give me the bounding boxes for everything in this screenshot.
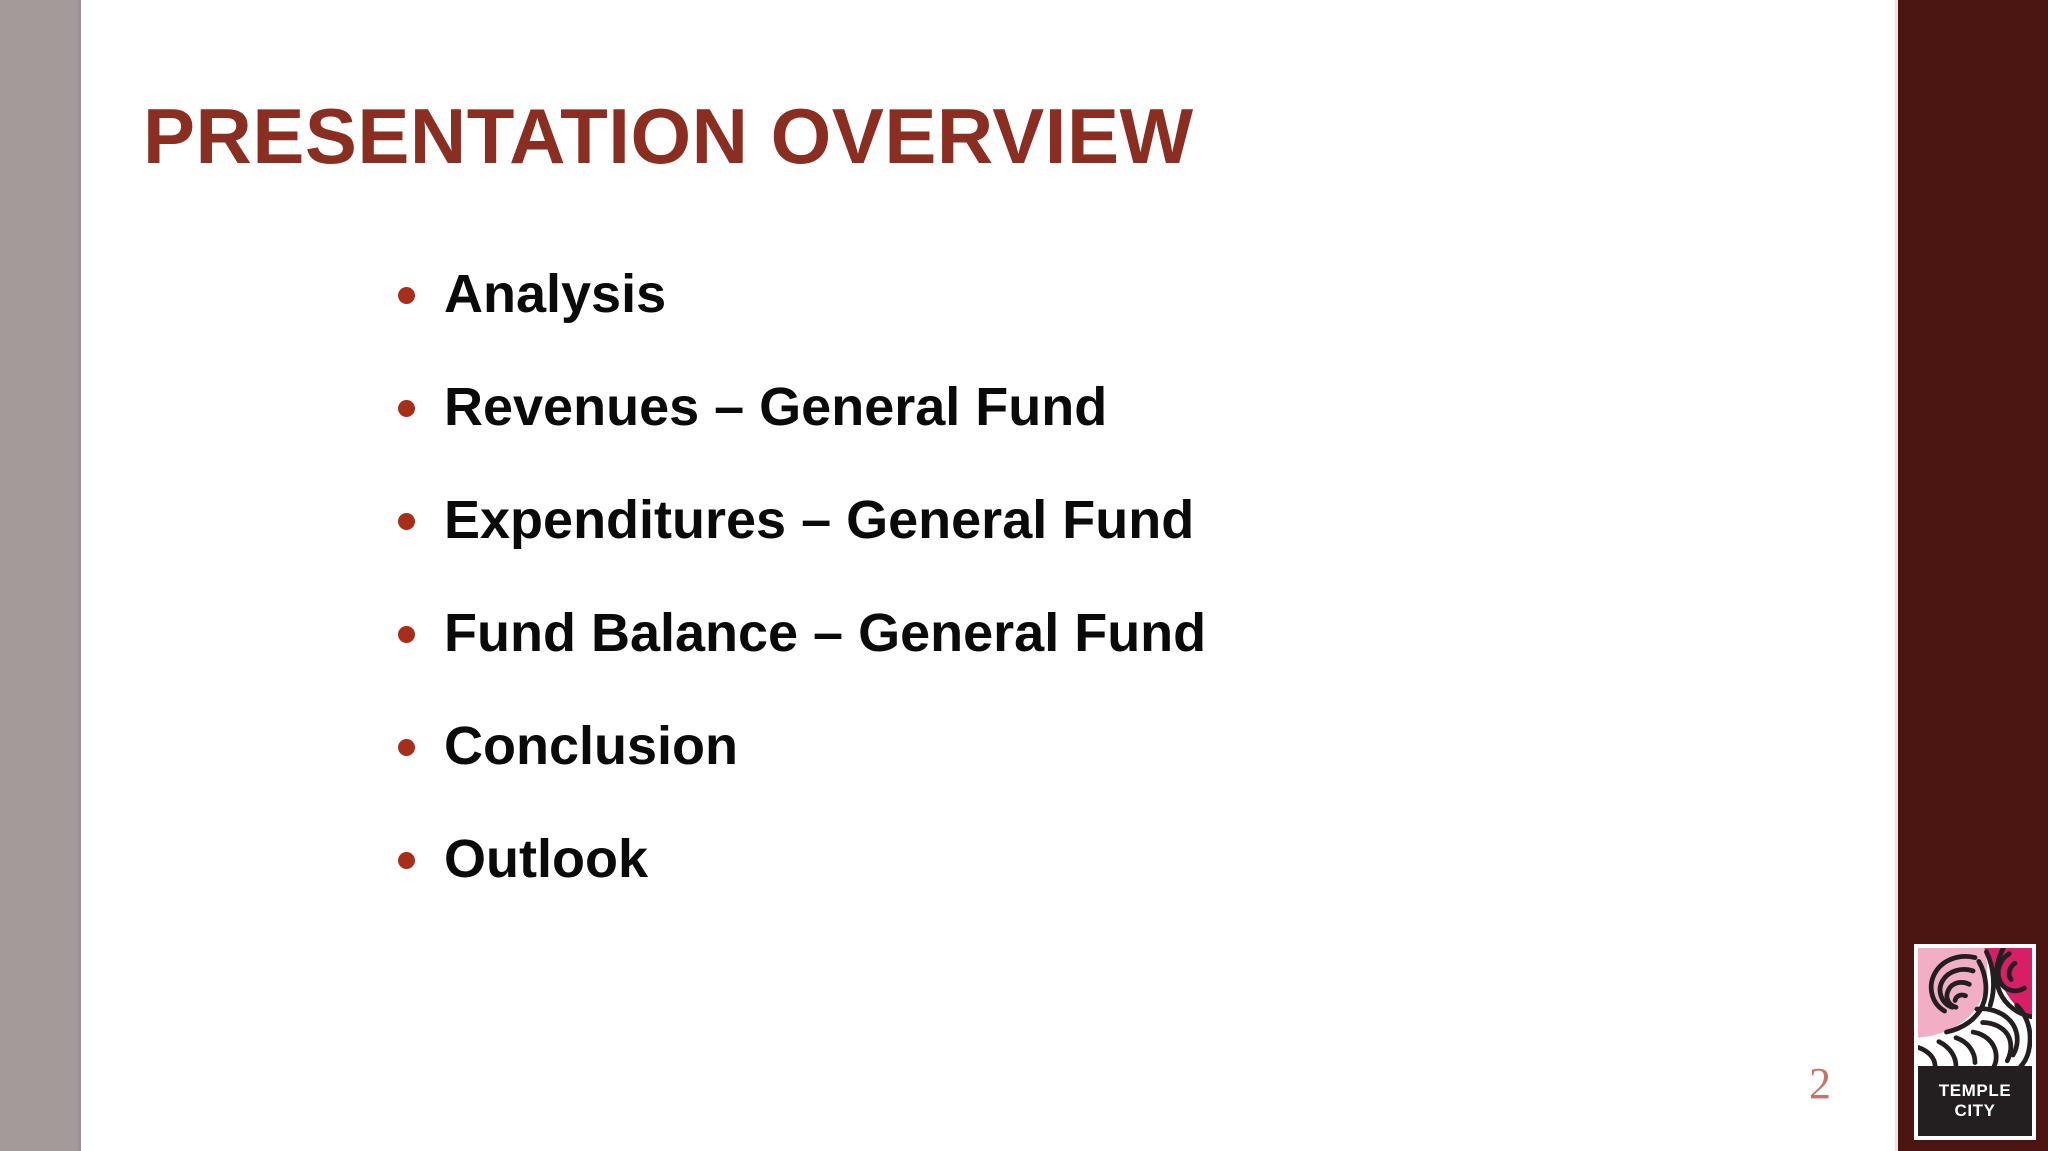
logo-word-temple: TEMPLE — [1939, 1082, 2012, 1100]
bullet-dot-icon — [398, 852, 415, 869]
bullet-dot-icon — [398, 400, 415, 417]
bullet-label: Expenditures – General Fund — [444, 491, 1194, 550]
bullet-label: Revenues – General Fund — [444, 378, 1107, 437]
bullet-label: Outlook — [444, 830, 648, 889]
bullet-label: Conclusion — [444, 717, 738, 776]
list-item: Conclusion — [398, 690, 1818, 803]
temple-city-logo: TEMPLE CITY — [1914, 944, 2036, 1140]
bullet-dot-icon — [398, 287, 415, 304]
list-item: Analysis — [398, 238, 1818, 351]
list-item: Outlook — [398, 803, 1818, 916]
logo-word-city: CITY — [1954, 1102, 1995, 1120]
presentation-slide: PRESENTATION OVERVIEW Analysis Revenues … — [0, 0, 2048, 1151]
slide-title: PRESENTATION OVERVIEW — [143, 96, 1743, 178]
bullet-dot-icon — [398, 739, 415, 756]
logo-wordmark: TEMPLE CITY — [1918, 1066, 2032, 1136]
bullet-label: Fund Balance – General Fund — [444, 604, 1206, 663]
page-number: 2 — [1797, 1062, 1843, 1106]
bullet-dot-icon — [398, 626, 415, 643]
left-accent-bar-edge — [78, 0, 81, 1151]
list-item: Revenues – General Fund — [398, 351, 1818, 464]
rose-icon — [1918, 948, 2032, 1066]
logo-inner: TEMPLE CITY — [1918, 948, 2032, 1136]
list-item: Fund Balance – General Fund — [398, 577, 1818, 690]
bullet-dot-icon — [398, 513, 415, 530]
left-accent-bar — [0, 0, 78, 1151]
bullet-label: Analysis — [444, 265, 666, 324]
list-item: Expenditures – General Fund — [398, 464, 1818, 577]
overview-bullet-list: Analysis Revenues – General Fund Expendi… — [398, 238, 1818, 916]
